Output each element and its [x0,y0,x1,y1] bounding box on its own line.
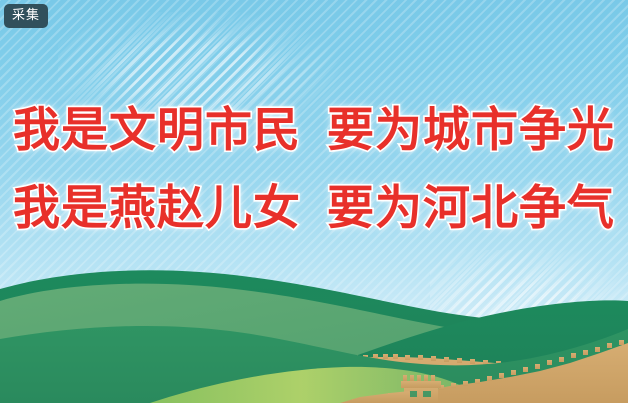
capture-badge[interactable]: 采集 [4,4,48,28]
landscape-illustration [0,243,628,403]
promo-banner: 我是文明市民要为城市争光 我是燕赵儿女要为河北争气 采集 [0,0,628,403]
